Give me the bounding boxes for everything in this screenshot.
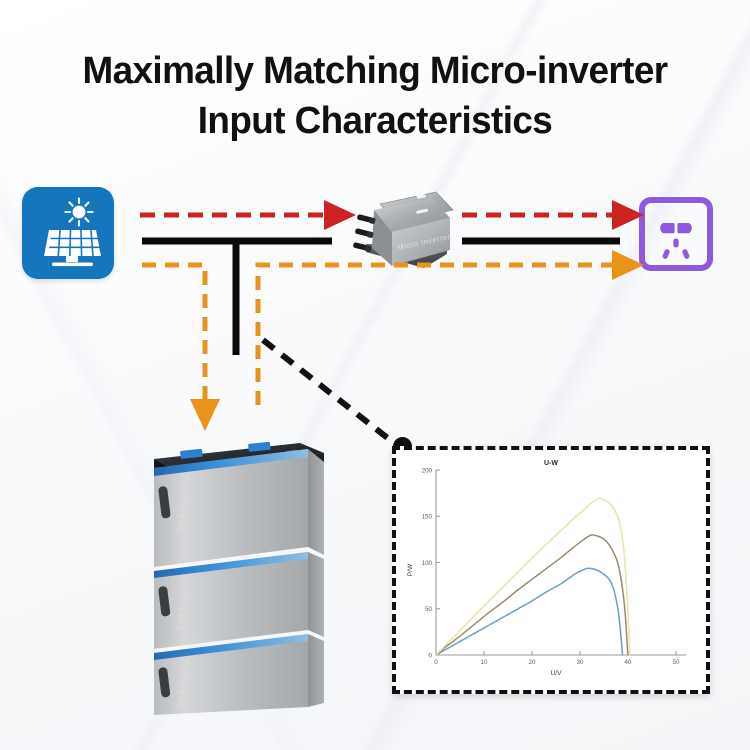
svg-text:0: 0 (429, 652, 433, 659)
svg-text:0: 0 (434, 659, 438, 666)
svg-text:10: 10 (481, 659, 488, 666)
svg-text:200: 200 (422, 467, 433, 474)
chart-svg: U-W 0 50 100 150 200 (396, 450, 706, 690)
y-axis-label: P/W (407, 563, 414, 576)
curve-medium-irradiance (436, 535, 628, 655)
infographic-canvas: Maximally Matching Micro-inverter Input … (0, 0, 750, 750)
svg-text:150: 150 (422, 514, 433, 521)
pv-power-voltage-chart: U-W 0 50 100 150 200 (392, 446, 710, 694)
svg-text:20: 20 (529, 659, 536, 666)
flow-battery-charge (142, 265, 205, 405)
power-outlet-icon (634, 192, 718, 276)
y-ticks: 0 50 100 150 200 (422, 467, 440, 659)
chart-series-group (436, 498, 630, 655)
svg-text:50: 50 (673, 659, 680, 666)
stacked-battery-modules: ENERGY ENERGY ENERGY (140, 425, 345, 717)
chart-title: U-W (544, 460, 558, 467)
micro-inverter-device: Micro Inverter (350, 182, 462, 280)
x-ticks: 0 10 20 30 40 50 (434, 651, 680, 666)
svg-text:100: 100 (422, 560, 433, 567)
x-axis-label: U/V (551, 670, 563, 677)
flow-battery-discharge (258, 265, 618, 405)
page-title: Maximally Matching Micro-inverter Input … (11, 46, 739, 146)
svg-text:30: 30 (577, 659, 584, 666)
svg-text:50: 50 (425, 606, 432, 613)
solar-panel-icon (22, 187, 114, 279)
svg-text:40: 40 (625, 659, 632, 666)
